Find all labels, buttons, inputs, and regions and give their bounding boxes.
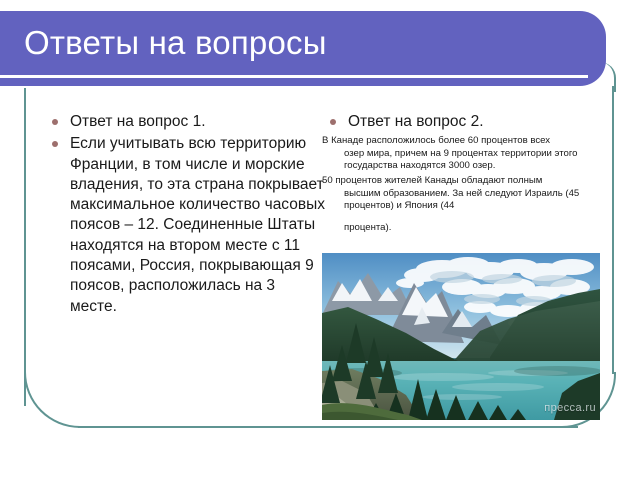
- title-band: Ответы на вопросы: [0, 11, 606, 86]
- landscape-photo: пресса.ru: [322, 253, 600, 420]
- paragraph: В Канаде расположилось более 60 проценто…: [322, 135, 606, 173]
- frame-left-line: [24, 88, 26, 406]
- list-item: Ответ на вопрос 1.: [44, 112, 326, 132]
- frame-right-line: [612, 86, 614, 374]
- paragraph-continuation: озер мира, причем на 9 процентах террито…: [322, 148, 606, 173]
- photo-watermark: пресса.ru: [544, 402, 596, 414]
- paragraph-continuation-2: процента).: [322, 222, 606, 235]
- frame-bottom-line: [78, 426, 578, 428]
- paragraph-lead: 50 процентов жителей Канады обладают пол…: [322, 175, 542, 186]
- left-content-column: Ответ на вопрос 1. Если учитывать всю те…: [44, 112, 326, 319]
- paragraph: 50 процентов жителей Канады обладают пол…: [322, 175, 606, 235]
- page-title: Ответы на вопросы: [24, 24, 327, 62]
- title-underline: [0, 75, 588, 78]
- frame-corner-bottom-left: [24, 372, 80, 428]
- paragraph-lead: В Канаде расположилось более 60 проценто…: [322, 135, 550, 146]
- slide: Ответы на вопросы Ответ на вопрос 1. Есл…: [0, 0, 640, 480]
- right-column-heading: Ответ на вопрос 2.: [322, 112, 606, 132]
- right-content-column: Ответ на вопрос 2. В Канаде расположилос…: [322, 112, 606, 237]
- list-item: Если учитывать всю территорию Франции, в…: [44, 134, 326, 317]
- landscape-photo-artwork: [322, 253, 600, 420]
- paragraph-continuation: высшим образованием. За ней следуют Изра…: [322, 188, 606, 213]
- left-bullet-list: Ответ на вопрос 1. Если учитывать всю те…: [44, 112, 326, 317]
